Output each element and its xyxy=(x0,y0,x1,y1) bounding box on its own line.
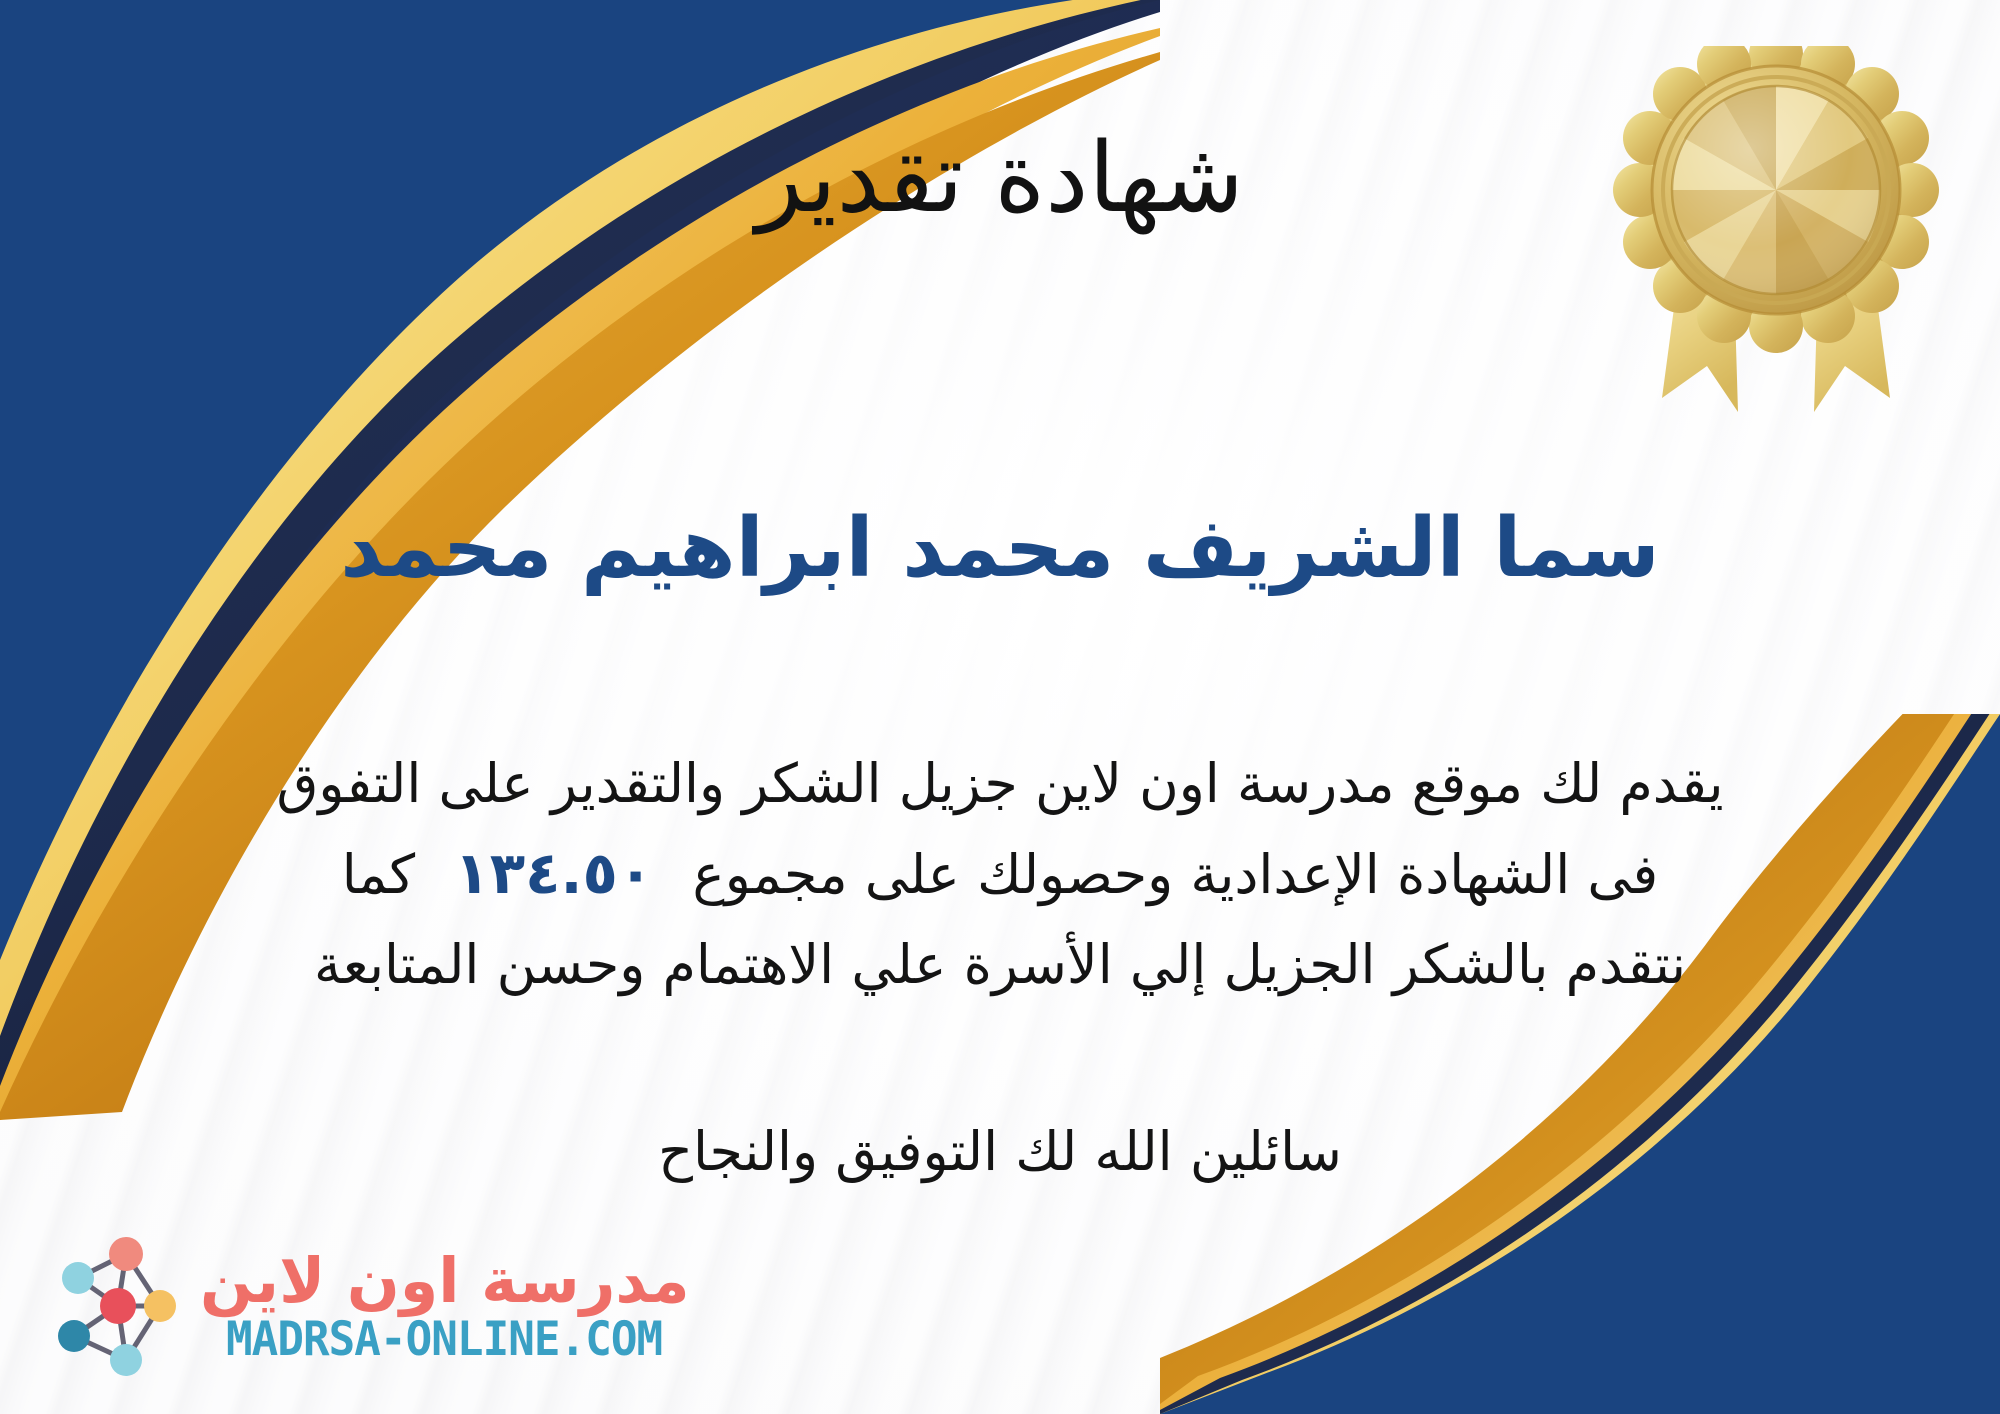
recipient-name: سما الشريف محمد ابراهيم محمد xyxy=(0,500,2000,598)
network-nodes-icon xyxy=(34,1232,186,1380)
node-teal xyxy=(58,1320,90,1352)
body-line-3: نتقدم بالشكر الجزيل إلي الأسرة علي الاهت… xyxy=(60,921,1940,1008)
node-lightblue-2 xyxy=(110,1344,142,1376)
certificate-canvas: شهادة تقدير سما الشريف محمد ابراهيم محمد… xyxy=(0,0,2000,1414)
body-line-2: فى الشهادة الإعدادية وحصولك على مجموع ١٣… xyxy=(60,827,1940,921)
node-coral xyxy=(109,1237,143,1271)
certificate-title: شهادة تقدير xyxy=(0,122,2000,234)
brand-text-stack: مدرسة اون لاين MADRSA-ONLINE.COM xyxy=(200,1250,690,1363)
brand-website[interactable]: MADRSA-ONLINE.COM xyxy=(226,1316,662,1363)
certificate-body: يقدم لك موقع مدرسة اون لاين جزيل الشكر و… xyxy=(60,740,1940,1009)
brand-arabic-name: مدرسة اون لاين xyxy=(200,1250,690,1312)
body-line-2-suffix: كما xyxy=(342,843,415,906)
node-red xyxy=(100,1288,136,1324)
closing-wish: سائلين الله لك التوفيق والنجاح xyxy=(0,1120,2000,1183)
grade-total-value: ١٣٤.٥٠ xyxy=(432,839,675,907)
node-yellow xyxy=(144,1290,176,1322)
body-line-2-prefix: فى الشهادة الإعدادية وحصولك على مجموع xyxy=(693,843,1659,906)
body-line-1: يقدم لك موقع مدرسة اون لاين جزيل الشكر و… xyxy=(60,740,1940,827)
node-lightblue xyxy=(62,1262,94,1294)
brand-logo[interactable]: مدرسة اون لاين MADRSA-ONLINE.COM xyxy=(34,1232,690,1380)
